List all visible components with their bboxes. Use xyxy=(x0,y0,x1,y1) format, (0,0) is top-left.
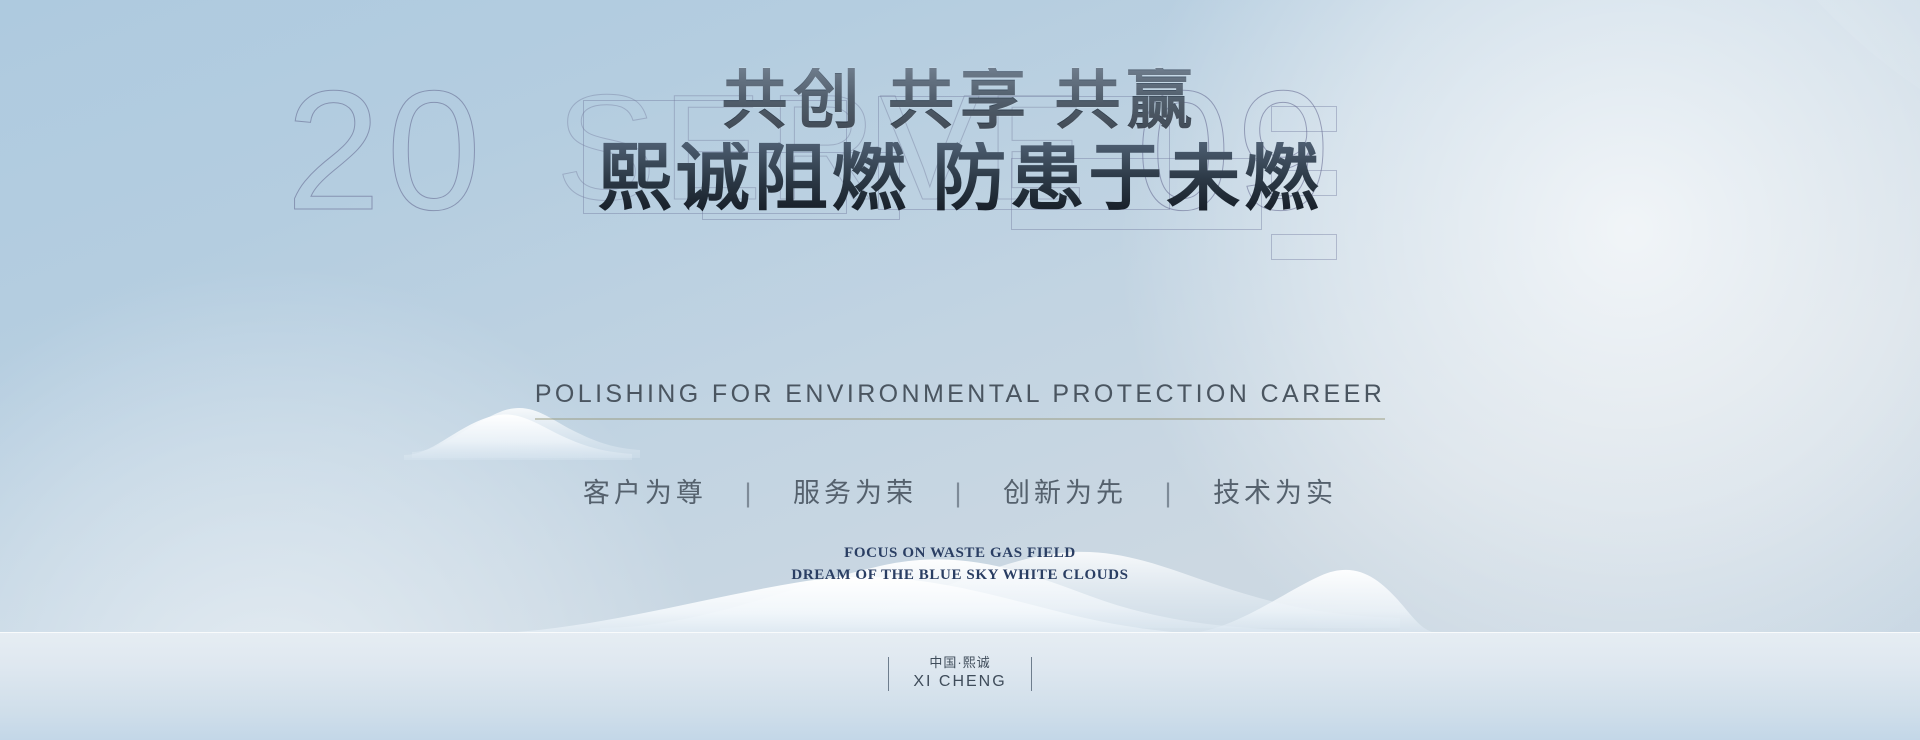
logo-text: 中国·熙诚 XI CHENG xyxy=(913,655,1006,692)
logo-text-cn: 中国·熙诚 xyxy=(913,655,1006,672)
logo-divider-right xyxy=(1031,657,1032,691)
core-value-3: 创新为先 xyxy=(1003,471,1127,510)
headline-line-1: 共创 共享 共赢 xyxy=(0,68,1920,134)
value-separator-2: | xyxy=(954,478,965,509)
poster-canvas: 20 SERVE 09 xyxy=(0,0,1920,740)
tagline-line-2: DREAM OF THE BLUE SKY WHITE CLOUDS xyxy=(0,565,1920,587)
brand-logo: 中国·熙诚 XI CHENG xyxy=(0,655,1920,692)
tagline-line-1: FOCUS ON WASTE GAS FIELD xyxy=(0,543,1920,565)
subtitle: POLISHING FOR ENVIRONMENTAL PROTECTION C… xyxy=(0,380,1920,420)
mountain-small-left-front xyxy=(404,414,632,460)
logo-divider-left xyxy=(888,657,889,691)
core-values-row: 客户为尊 | 服务为荣 | 创新为先 | 技术为实 xyxy=(0,471,1920,510)
core-value-1: 客户为尊 xyxy=(583,471,707,510)
value-separator-1: | xyxy=(744,478,755,509)
value-separator-3: | xyxy=(1165,478,1176,509)
tagline: FOCUS ON WASTE GAS FIELD DREAM OF THE BL… xyxy=(0,543,1920,587)
page-title: 共创 共享 共赢 熙诚阻燃 防患于未燃 xyxy=(0,68,1920,216)
logo-text-en: XI CHENG xyxy=(913,672,1006,692)
core-value-2: 服务为荣 xyxy=(793,471,917,510)
core-value-4: 技术为实 xyxy=(1213,471,1337,510)
subtitle-text: POLISHING FOR ENVIRONMENTAL PROTECTION C… xyxy=(535,380,1385,420)
headline-line-2: 熙诚阻燃 防患于未燃 xyxy=(0,142,1920,216)
